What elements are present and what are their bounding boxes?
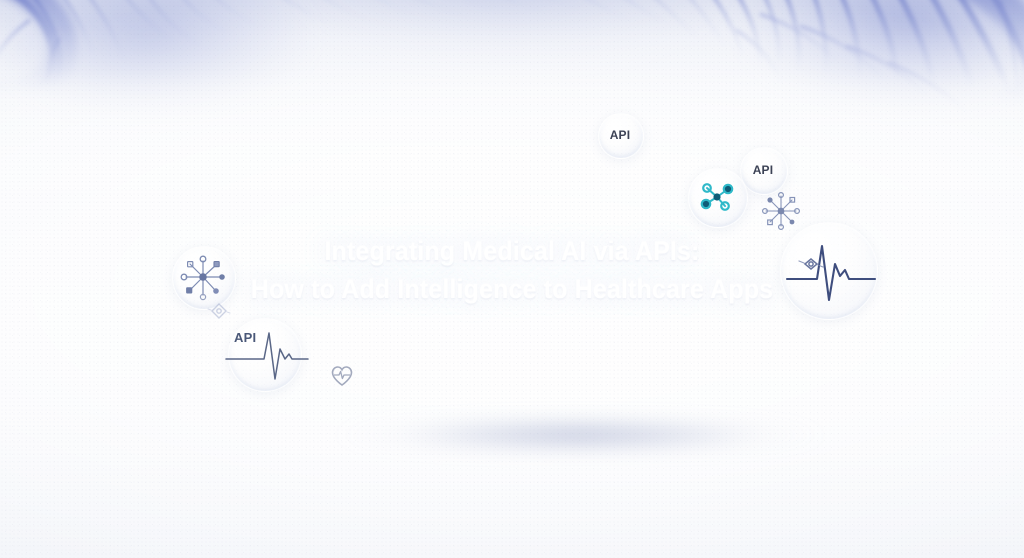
network-hub-icon-left [172,246,234,308]
network-molecule-icon [688,168,746,226]
api-bubble-top-label: API [598,113,642,157]
api-ecg-icon [222,312,312,396]
api-ecg-label: API [234,330,256,345]
hero-banner: API API [0,0,1024,558]
heart-pulse-icon [330,364,354,388]
ecg-pulse-icon [780,222,876,318]
